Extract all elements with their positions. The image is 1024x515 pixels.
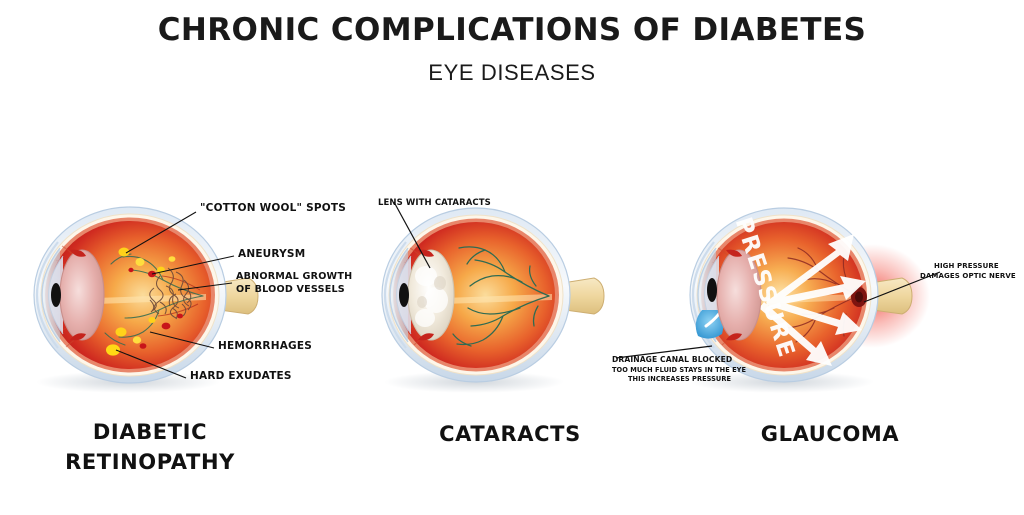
eye-diagram-cataracts bbox=[352, 150, 652, 440]
label-increases-pressure: THIS INCREASES PRESSURE bbox=[628, 375, 731, 384]
panel-diabetic-retinopathy: "COTTON WOOL" SPOTS ANEURYSM ABNORMAL GR… bbox=[0, 150, 360, 440]
caption-diabetic-retinopathy: DIABETIC RETINOPATHY bbox=[0, 418, 300, 478]
label-abnormal-growth-line1: ABNORMAL GROWTH bbox=[236, 271, 352, 284]
label-damages-optic-nerve: DAMAGES OPTIC NERVE bbox=[920, 272, 1016, 281]
label-hard-exudates: HARD EXUDATES bbox=[190, 370, 292, 384]
label-lens-with-cataracts: LENS WITH CATARACTS bbox=[378, 198, 491, 209]
caption-cataracts: CATARACTS bbox=[360, 420, 660, 450]
pupil bbox=[399, 283, 409, 307]
caption-line-1: DIABETIC bbox=[0, 418, 300, 448]
label-aneurysm: ANEURYSM bbox=[238, 248, 305, 262]
label-high-pressure: HIGH PRESSURE bbox=[934, 262, 999, 271]
label-too-much-fluid: TOO MUCH FLUID STAYS IN THE EYE bbox=[612, 366, 746, 375]
label-abnormal-growth-line2: OF BLOOD VESSELS bbox=[236, 284, 345, 297]
panel-cataracts: LENS WITH CATARACTS bbox=[352, 150, 652, 440]
optic-disc-cup bbox=[855, 292, 863, 303]
page-title: CHRONIC COMPLICATIONS OF DIABETES bbox=[0, 12, 1024, 48]
caption-line-2: RETINOPATHY bbox=[0, 448, 300, 478]
illustration-root: CHRONIC COMPLICATIONS OF DIABETES EYE DI… bbox=[0, 0, 1024, 515]
panel-glaucoma: PRESSURE DRAINAGE CANAL BLOCKED TOO MUCH… bbox=[640, 150, 1024, 440]
label-cotton-wool-spots: "COTTON WOOL" SPOTS bbox=[200, 202, 346, 216]
caption-glaucoma: GLAUCOMA bbox=[680, 420, 980, 450]
pupil bbox=[51, 283, 61, 307]
page-subtitle: EYE DISEASES bbox=[0, 60, 1024, 86]
label-drainage-canal-blocked: DRAINAGE CANAL BLOCKED bbox=[612, 355, 732, 365]
lens bbox=[60, 250, 104, 340]
label-hemorrhages: HEMORRHAGES bbox=[218, 340, 312, 354]
eye-diagram-glaucoma: PRESSURE bbox=[640, 150, 1024, 440]
pupil bbox=[707, 278, 717, 302]
